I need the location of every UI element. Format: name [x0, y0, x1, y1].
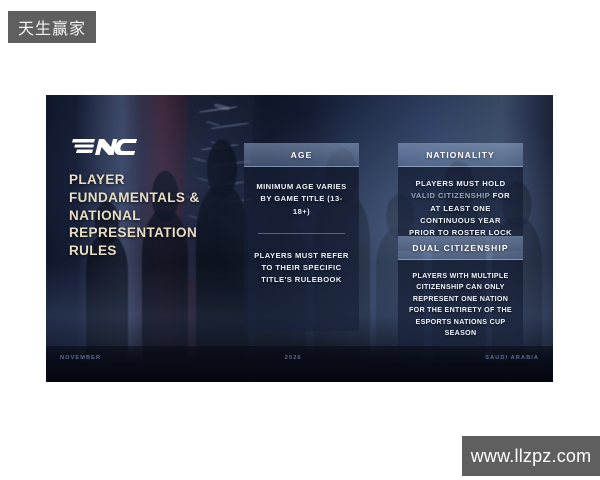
card-age-title: AGE — [244, 143, 359, 167]
card-age-divider — [258, 233, 345, 234]
card-dual-citizenship-text: PLAYERS WITH MULTIPLE CITIZENSHIP CAN ON… — [405, 271, 516, 340]
enc-logo-icon — [69, 137, 141, 157]
card-nationality-text: PLAYERS MUST HOLD VALID CITIZENSHIP FOR … — [406, 178, 515, 239]
footer-month: NOVEMBER — [60, 355, 101, 361]
site-watermark: www.llzpz.com — [462, 436, 600, 476]
card-dual-citizenship: DUAL CITIZENSHIP PLAYERS WITH MULTIPLE C… — [398, 236, 523, 352]
card-age-text-1: MINIMUM AGE VARIES BY GAME TITLE (13-18+… — [254, 181, 349, 218]
card-nationality-text-lead: PLAYERS MUST HOLD — [415, 179, 505, 188]
slide-footer-row: NOVEMBER 2026 SAUDI ARABIA — [60, 355, 539, 361]
page-title: PLAYER FUNDAMENTALS & NATIONAL REPRESENT… — [69, 171, 239, 260]
card-age: AGE MINIMUM AGE VARIES BY GAME TITLE (13… — [244, 143, 359, 331]
cjk-watermark-text: 天生赢家 — [18, 15, 86, 39]
site-watermark-text: www.llzpz.com — [471, 446, 592, 467]
card-age-text-2: PLAYERS MUST REFER TO THEIR SPECIFIC TIT… — [254, 250, 349, 287]
card-dual-citizenship-body: PLAYERS WITH MULTIPLE CITIZENSHIP CAN ON… — [398, 260, 523, 352]
slide-footer: NOVEMBER 2026 SAUDI ARABIA — [46, 346, 553, 382]
footer-location: SAUDI ARABIA — [485, 355, 539, 361]
card-age-body: MINIMUM AGE VARIES BY GAME TITLE (13-18+… — [244, 167, 359, 331]
slide-image: PLAYER FUNDAMENTALS & NATIONAL REPRESENT… — [46, 95, 553, 382]
card-dual-citizenship-title: DUAL CITIZENSHIP — [398, 236, 523, 260]
card-nationality-title: NATIONALITY — [398, 143, 523, 167]
footer-year: 2026 — [285, 355, 302, 361]
card-nationality-text-highlight: VALID CITIZENSHIP — [411, 191, 490, 200]
cjk-watermark-label: 天生赢家 — [8, 11, 96, 43]
